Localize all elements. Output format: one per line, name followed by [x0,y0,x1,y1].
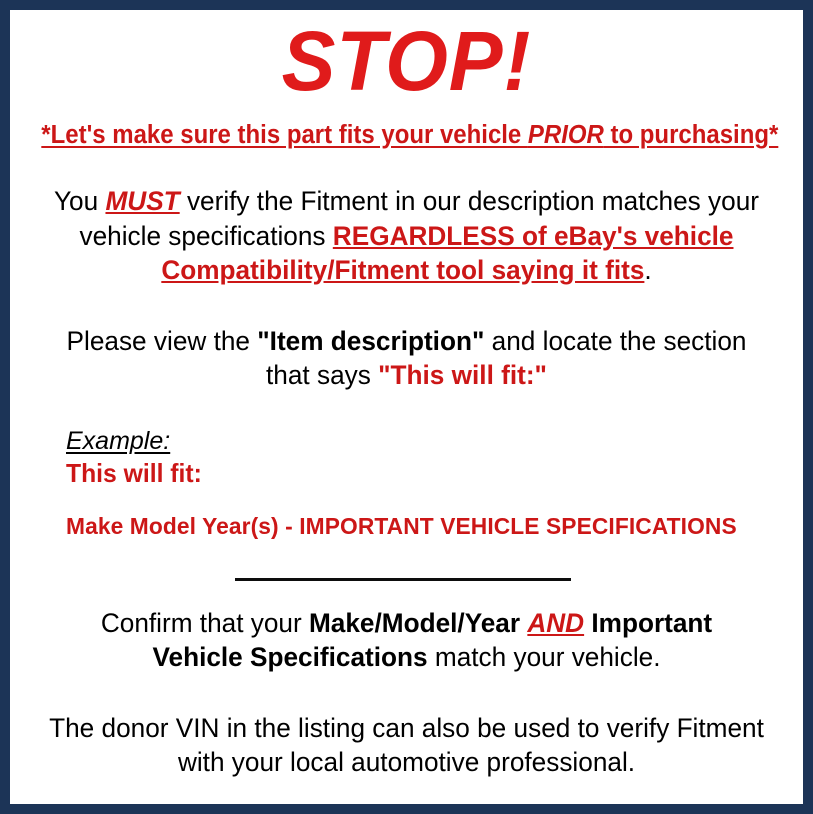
thank-you-line: Thank you for confirming Fitment! [30,804,784,814]
must-emphasis: MUST [105,186,179,216]
subtitle-emphasis-prior: PRIOR [528,121,604,149]
view-description-paragraph: Please view the "Item description" and l… [30,324,784,393]
view-text-part1: Please view the [67,326,258,356]
this-will-fit-emphasis: "This will fit:" [378,360,547,390]
make-model-year-emphasis: Make/Model/Year [309,608,520,638]
confirm-text-part1: Confirm that your [101,608,309,638]
must-text-part1: You [54,186,105,216]
example-this-will-fit: This will fit: [66,458,759,489]
fitment-notice-card: STOP! *Let's make sure this part fits yo… [0,0,813,814]
example-spec-line: Make Model Year(s) - IMPORTANT VEHICLE S… [66,513,788,540]
must-verify-paragraph: You MUST verify the Fitment in our descr… [30,184,784,288]
horizontal-divider [235,578,571,581]
subtitle-banner: *Let's make sure this part fits your veh… [41,121,771,150]
item-description-emphasis: "Item description" [257,326,484,356]
donor-vin-paragraph: The donor VIN in the listing can also be… [30,711,784,780]
example-block: Example: This will fit: Make Model Year(… [18,427,795,540]
confirm-paragraph: Confirm that your Make/Model/Year AND Im… [30,606,784,675]
subtitle-text-before: *Let's make sure this part fits your veh… [41,121,528,149]
stop-headline: STOP! [34,10,780,107]
example-label: Example: [66,427,170,456]
notice-content: STOP! *Let's make sure this part fits yo… [10,10,803,804]
confirm-space-1 [520,608,527,638]
confirm-text-part2: match your vehicle. [428,642,661,672]
subtitle-text-after: to purchasing* [604,121,778,149]
must-text-part3: . [644,255,651,285]
divider-container [18,568,795,578]
and-emphasis: AND [527,608,584,638]
